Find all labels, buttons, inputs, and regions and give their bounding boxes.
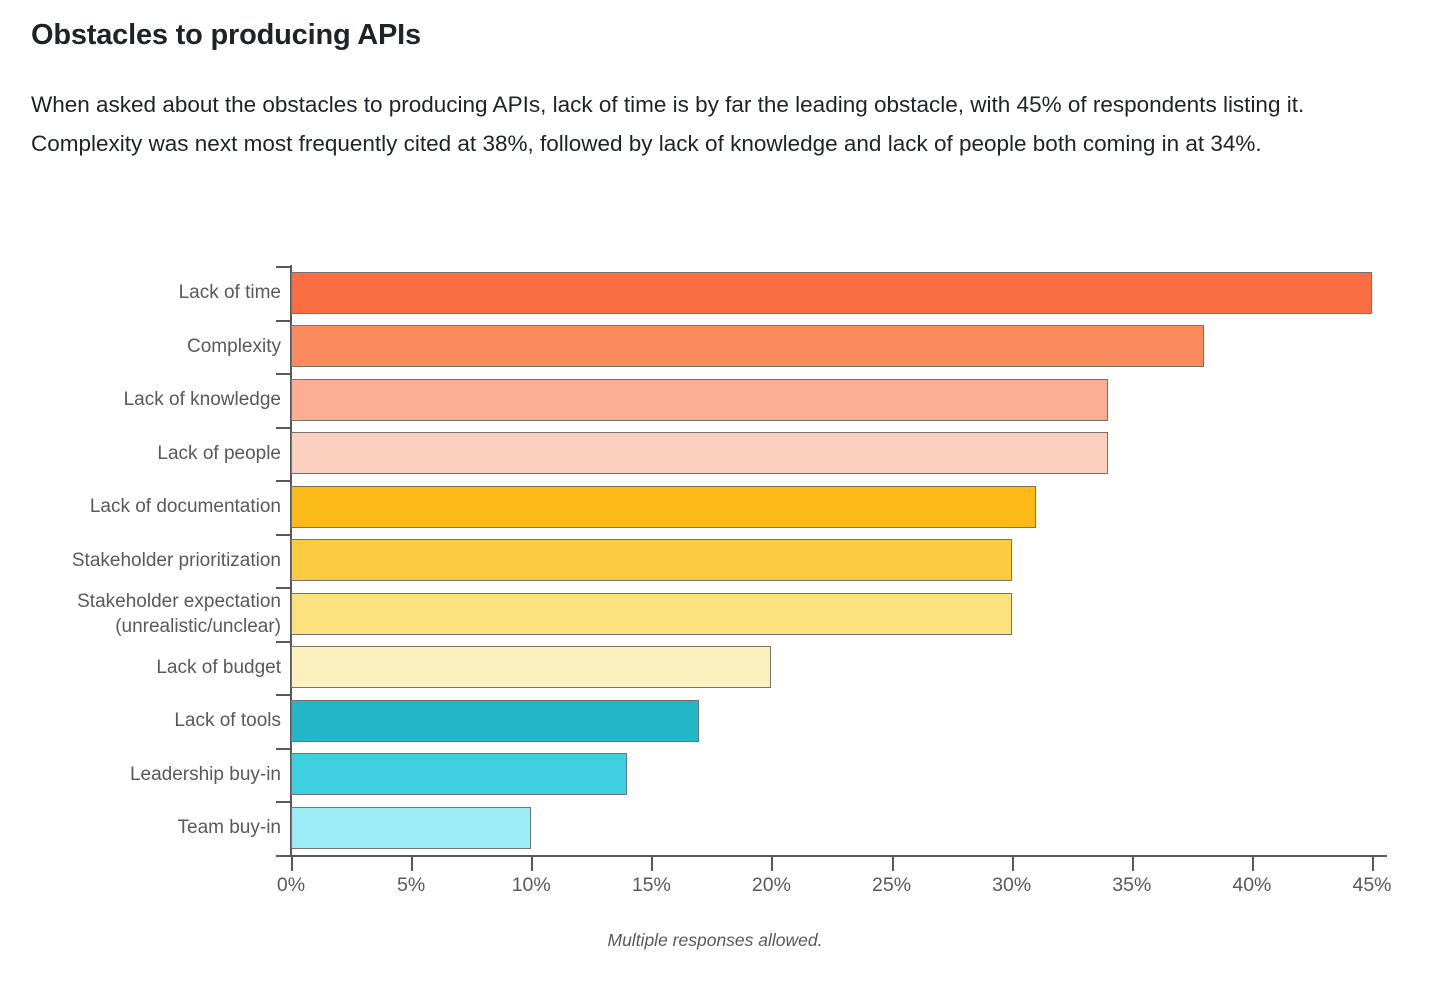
y-axis-tick bbox=[276, 801, 291, 803]
bar[interactable] bbox=[291, 272, 1372, 314]
bar[interactable] bbox=[291, 700, 699, 742]
x-axis-tick bbox=[892, 857, 894, 871]
x-axis-tick bbox=[651, 857, 653, 871]
category-label: Stakeholder prioritization bbox=[0, 548, 281, 573]
bar[interactable] bbox=[291, 432, 1108, 474]
category-label: Lack of time bbox=[0, 280, 281, 305]
x-axis-tick bbox=[771, 857, 773, 871]
y-axis-tick bbox=[276, 373, 291, 375]
bar-row: Lack of budget bbox=[291, 641, 1372, 695]
category-label: Lack of people bbox=[0, 441, 281, 466]
y-axis-tick bbox=[276, 320, 291, 322]
bar-rows: Lack of timeComplexityLack of knowledgeL… bbox=[291, 266, 1372, 855]
x-axis-tick-label: 40% bbox=[1232, 874, 1271, 897]
bar[interactable] bbox=[291, 807, 531, 849]
y-axis-tick bbox=[276, 855, 291, 857]
bar-row: Team buy-in bbox=[291, 801, 1372, 855]
bar[interactable] bbox=[291, 539, 1012, 581]
y-axis-tick bbox=[276, 748, 291, 750]
bar[interactable] bbox=[291, 646, 771, 688]
bar[interactable] bbox=[291, 325, 1204, 367]
y-axis-tick bbox=[276, 694, 291, 696]
bar[interactable] bbox=[291, 486, 1036, 528]
bar-row: Lack of documentation bbox=[291, 480, 1372, 534]
x-axis-tick bbox=[1252, 857, 1254, 871]
bar-row: Lack of tools bbox=[291, 694, 1372, 748]
bar-row: Stakeholder prioritization bbox=[291, 534, 1372, 588]
bar-row: Leadership buy-in bbox=[291, 748, 1372, 802]
y-axis-tick bbox=[276, 641, 291, 643]
x-axis-tick-label: 35% bbox=[1112, 874, 1151, 897]
category-label: Lack of tools bbox=[0, 708, 281, 733]
category-label: Team buy-in bbox=[0, 815, 281, 840]
x-axis-tick bbox=[411, 857, 413, 871]
y-axis-tick bbox=[276, 427, 291, 429]
x-axis-tick-label: 25% bbox=[872, 874, 911, 897]
bar-row: Lack of time bbox=[291, 266, 1372, 320]
x-axis-tick-label: 10% bbox=[512, 874, 551, 897]
x-axis-tick-label: 0% bbox=[277, 874, 305, 897]
category-label: Stakeholder expectation (unrealistic/unc… bbox=[0, 589, 281, 639]
bar-row: Lack of knowledge bbox=[291, 373, 1372, 427]
page-title: Obstacles to producing APIs bbox=[31, 18, 421, 53]
x-axis: 0%5%10%15%20%25%30%35%40%45% bbox=[291, 857, 1372, 907]
x-axis-tick-label: 30% bbox=[992, 874, 1031, 897]
category-label: Lack of knowledge bbox=[0, 387, 281, 412]
bar-row: Lack of people bbox=[291, 427, 1372, 481]
category-label: Complexity bbox=[0, 334, 281, 359]
bar-chart: Lack of timeComplexityLack of knowledgeL… bbox=[0, 240, 1430, 940]
category-label: Lack of documentation bbox=[0, 494, 281, 519]
bar[interactable] bbox=[291, 593, 1012, 635]
x-axis-tick-label: 45% bbox=[1352, 874, 1391, 897]
x-axis-tick bbox=[1372, 857, 1374, 871]
category-label: Leadership buy-in bbox=[0, 762, 281, 787]
x-axis-tick bbox=[531, 857, 533, 871]
x-axis-tick-label: 20% bbox=[752, 874, 791, 897]
y-axis-tick bbox=[276, 534, 291, 536]
y-axis-tick bbox=[276, 480, 291, 482]
x-axis-tick-label: 15% bbox=[632, 874, 671, 897]
x-axis-tick bbox=[1012, 857, 1014, 871]
bar-row: Complexity bbox=[291, 320, 1372, 374]
x-axis-tick bbox=[291, 857, 293, 871]
x-axis-tick-label: 5% bbox=[397, 874, 425, 897]
x-axis-tick bbox=[1132, 857, 1134, 871]
chart-page: Obstacles to producing APIs When asked a… bbox=[0, 0, 1430, 981]
intro-paragraph: When asked about the obstacles to produc… bbox=[31, 86, 1383, 163]
bar-row: Stakeholder expectation (unrealistic/unc… bbox=[291, 587, 1372, 641]
category-label: Lack of budget bbox=[0, 655, 281, 680]
y-axis-tick bbox=[276, 266, 291, 268]
chart-footnote: Multiple responses allowed. bbox=[0, 930, 1430, 951]
bar[interactable] bbox=[291, 753, 627, 795]
plot-area: Lack of timeComplexityLack of knowledgeL… bbox=[291, 266, 1372, 855]
bar[interactable] bbox=[291, 379, 1108, 421]
